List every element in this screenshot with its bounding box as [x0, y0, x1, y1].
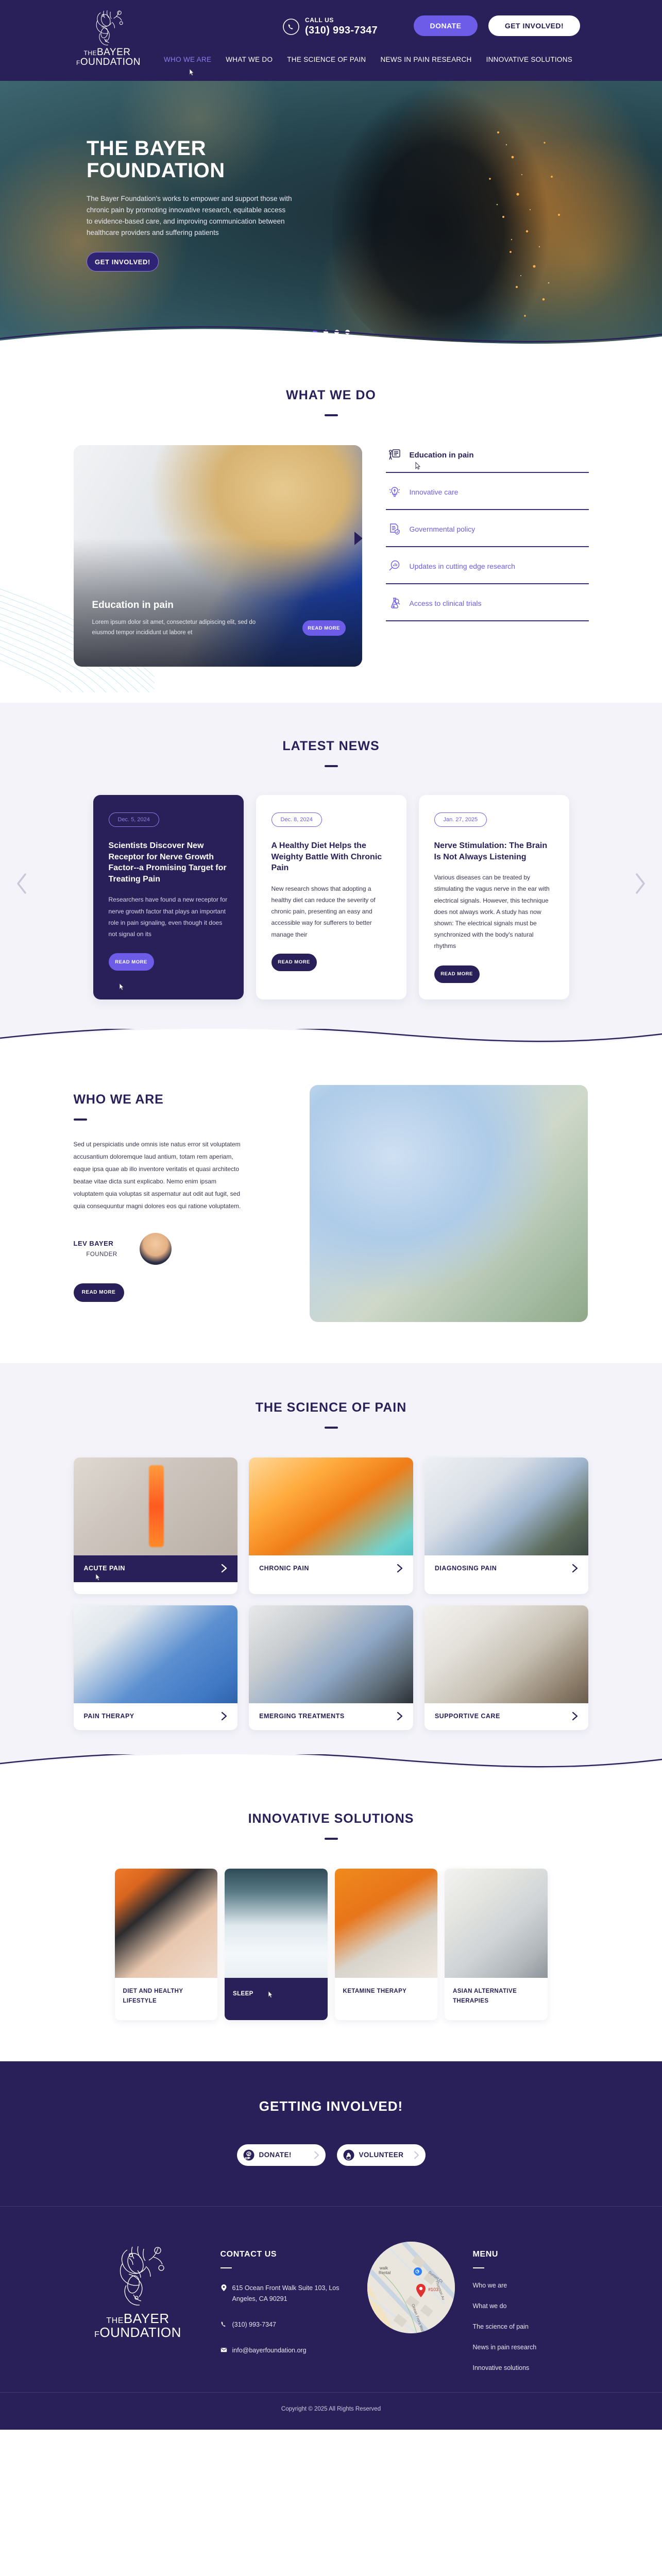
innovative-card-label: ASIAN ALTERNATIVE THERAPIES [453, 1988, 517, 2004]
founder-role: FOUNDER [74, 1251, 130, 1258]
hero-title-line2: FOUNDATION [87, 160, 308, 182]
footer-menu-item-news-in-pain-research[interactable]: News in pain research [473, 2344, 591, 2351]
what-we-do-item-updates-research[interactable]: Updates in cutting edge research [386, 560, 589, 584]
hero-banner: THE BAYER FOUNDATION The Bayer Foundatio… [0, 81, 662, 349]
footer-menu-item-what-we-do[interactable]: What we do [473, 2302, 591, 2310]
chevron-right-icon [414, 2151, 419, 2159]
innovative-card-image [445, 1869, 548, 1978]
footer-email: info@bayerfoundation.org [232, 2345, 307, 2357]
footer-address-line: 615 Ocean Front Walk Suite 103, Los Ange… [220, 2283, 349, 2306]
donate-button-label: DONATE! [259, 2151, 309, 2159]
innovative-card-asian-alternative[interactable]: ASIAN ALTERNATIVE THERAPIES [445, 1869, 548, 2020]
what-we-do-item-clinical-trials[interactable]: Access to clinical trials [386, 597, 589, 621]
latest-news-section: LATEST NEWS Dec. 5, 2024 Scientists Disc… [0, 703, 662, 1049]
nav-item-news-in-pain-research[interactable]: NEWS IN PAIN RESEARCH [380, 56, 471, 63]
science-card-emerging-treatments[interactable]: EMERGING TREATMENTS [249, 1605, 413, 1730]
what-we-do-title: WHAT WE DO [0, 388, 662, 403]
footer-phone: (310) 993-7347 [232, 2319, 276, 2331]
footer-divider-rule [220, 2267, 232, 2268]
who-we-are-body: Sed ut perspiciatis unde omnis iste natu… [74, 1138, 244, 1212]
what-we-do-section: WHAT WE DO Education in pain Lorem ipsum… [0, 349, 662, 703]
nav-item-the-science-of-pain[interactable]: THE SCIENCE OF PAIN [287, 56, 366, 63]
news-card-title: Nerve Stimulation: The Brain Is Not Alwa… [434, 840, 554, 862]
logo-f: F [76, 59, 80, 66]
call-us-block[interactable]: CALL US (310) 993-7347 [282, 16, 378, 37]
svg-text:Rental: Rental [379, 2270, 391, 2275]
logo-oundation: OUNDATION [80, 57, 141, 67]
what-we-do-item-innovative-care[interactable]: Innovative care [386, 485, 589, 510]
news-card-date: Dec. 5, 2024 [109, 812, 159, 827]
science-of-pain-title: THE SCIENCE OF PAIN [0, 1400, 662, 1415]
chevron-right-icon [397, 1564, 403, 1573]
news-prev-arrow[interactable] [15, 873, 29, 894]
news-card-title: A Healthy Diet Helps the Weighty Battle … [271, 840, 391, 874]
mouse-cursor-pointer [188, 68, 195, 77]
bird-logo-icon [99, 2240, 177, 2308]
chevron-right-icon [221, 1564, 227, 1573]
flask-magnifier-icon [388, 597, 401, 610]
news-bottom-wave [0, 1029, 662, 1049]
news-next-arrow[interactable] [633, 873, 647, 894]
innovative-card-image [335, 1869, 438, 1978]
map-graphic: walk Rental Sunset Ct Thornton Av Ocean … [367, 2242, 455, 2333]
nav-item-innovative-solutions[interactable]: INNOVATIVE SOLUTIONS [486, 56, 573, 63]
donate-button[interactable]: DONATE! [237, 2144, 326, 2166]
map-pin-icon [220, 2284, 227, 2292]
what-we-do-item-education-in-pain[interactable]: Education in pain [386, 448, 589, 473]
news-card[interactable]: Jan. 27, 2025 Nerve Stimulation: The Bra… [419, 795, 569, 999]
science-card-label: CHRONIC PAIN [259, 1565, 309, 1572]
what-we-do-item-label: Education in pain [410, 451, 474, 460]
section-divider-rule [325, 1838, 338, 1840]
what-we-do-item-label: Access to clinical trials [410, 599, 482, 607]
nav-item-what-we-do[interactable]: WHAT WE DO [226, 56, 273, 63]
logo-the: THE [83, 49, 97, 57]
news-card-date: Jan. 27, 2025 [434, 812, 487, 827]
section-divider-rule [325, 414, 338, 416]
what-we-do-read-more-button[interactable]: READ MORE [302, 620, 346, 636]
footer-logo[interactable]: THEBAYER FOUNDATION [71, 2236, 205, 2340]
donate-coin-hand-icon [243, 2149, 254, 2161]
location-map[interactable]: walk Rental Sunset Ct Thornton Av Ocean … [367, 2242, 455, 2333]
science-card-image [425, 1605, 589, 1703]
innovative-card-sleep[interactable]: SLEEP [225, 1869, 328, 2020]
who-we-are-read-more-button[interactable]: READ MORE [74, 1283, 124, 1302]
science-card-image [425, 1458, 589, 1555]
news-read-more-button[interactable]: READ MORE [434, 965, 480, 983]
getting-involved-title: GETTING INVOLVED! [0, 2098, 662, 2114]
science-card-acute-pain[interactable]: ACUTE PAIN [74, 1458, 238, 1594]
volunteer-button[interactable]: VOLUNTEER [337, 2144, 426, 2166]
hero-sparks-decoration [389, 112, 585, 328]
raised-hands-icon [343, 2149, 354, 2161]
what-we-do-item-label: Governmental policy [410, 525, 476, 533]
map-marker-label: #103 [428, 2287, 438, 2292]
science-card-image [249, 1458, 413, 1555]
innovative-card-label: SLEEP [233, 1991, 253, 1997]
science-bottom-wave [0, 1754, 662, 1775]
what-we-do-item-governmental-policy[interactable]: Governmental policy [386, 522, 589, 547]
logo-bayer: BAYER [97, 47, 131, 58]
science-card-label: ACUTE PAIN [84, 1565, 125, 1572]
hero-subtitle: The Bayer Foundation's works to empower … [87, 193, 293, 239]
science-card-diagnosing-pain[interactable]: DIAGNOSING PAIN [425, 1458, 589, 1594]
what-we-do-card-body: Lorem ipsum dolor sit amet, consectetur … [92, 617, 273, 638]
avatar [140, 1233, 172, 1265]
mouse-cursor-pointer [118, 982, 125, 992]
footer-logo-f: F [94, 2330, 99, 2339]
footer-contact-column: CONTACT US 615 Ocean Front Walk Suite 10… [220, 2236, 349, 2357]
science-card-chronic-pain[interactable]: CHRONIC PAIN [249, 1458, 413, 1594]
footer-map-column: walk Rental Sunset Ct Thornton Av Ocean … [365, 2236, 457, 2333]
magnifier-chart-icon [388, 560, 401, 573]
bird-logo-icon [83, 6, 131, 46]
section-divider-rule [325, 1427, 338, 1429]
footer-contact-heading: CONTACT US [220, 2250, 349, 2259]
footer-address: 615 Ocean Front Walk Suite 103, Los Ange… [232, 2283, 349, 2306]
what-we-do-item-label: Innovative care [410, 488, 459, 496]
call-us-label: CALL US [305, 16, 378, 24]
hero-get-involved-button[interactable]: GET INVOLVED! [87, 252, 159, 272]
page-root: THEBAYER FOUNDATION CALL US (310) 993-73… [0, 0, 662, 2430]
innovative-solutions-section: INNOVATIVE SOLUTIONS DIET AND HEALTHY LI… [0, 1774, 662, 2061]
who-we-are-section: WHO WE ARE Sed ut perspiciatis unde omni… [0, 1049, 662, 1363]
news-read-more-button[interactable]: READ MORE [109, 953, 154, 971]
mouse-cursor-pointer [267, 1990, 274, 1999]
hero-title-line1: THE BAYER [87, 138, 308, 160]
science-card-supportive-care[interactable]: SUPPORTIVE CARE [425, 1605, 589, 1730]
news-read-more-button[interactable]: READ MORE [271, 954, 317, 971]
site-header: THEBAYER FOUNDATION CALL US (310) 993-73… [0, 0, 662, 81]
footer-logo-bayer: BAYER [124, 2311, 169, 2326]
footer-menu-heading: MENU [473, 2250, 591, 2259]
what-we-do-feature-card[interactable]: Education in pain Lorem ipsum dolor sit … [74, 445, 362, 667]
site-logo[interactable]: THEBAYER FOUNDATION [76, 6, 138, 67]
chevron-right-icon [572, 1711, 578, 1721]
science-card-label: SUPPORTIVE CARE [435, 1713, 500, 1720]
founder-name: LEV BAYER [74, 1240, 130, 1247]
who-we-are-image [310, 1085, 588, 1322]
footer-logo-oundation: OUNDATION [99, 2325, 181, 2340]
header-phone-number[interactable]: (310) 993-7347 [305, 25, 378, 37]
phone-icon [220, 2320, 227, 2328]
science-card-label: DIAGNOSING PAIN [435, 1565, 497, 1572]
science-of-pain-section: THE SCIENCE OF PAIN ACUTE PAIN CHRONIC P… [0, 1363, 662, 1774]
document-shield-icon [388, 522, 401, 536]
news-card-title: Scientists Discover New Receptor for Ner… [109, 840, 228, 885]
science-card-image [249, 1605, 413, 1703]
phone-icon [282, 18, 300, 36]
chevron-right-icon [314, 2151, 319, 2159]
innovative-card-label: KETAMINE THERAPY [343, 1988, 407, 1994]
news-card-body: New research shows that adopting a healt… [271, 883, 391, 940]
hero-bottom-wave [0, 325, 662, 349]
innovative-card-diet[interactable]: DIET AND HEALTHY LIFESTYLE [115, 1869, 218, 2020]
getting-involved-section: GETTING INVOLVED! DONATE! [0, 2061, 662, 2206]
science-card-image [74, 1458, 238, 1555]
footer-logo-the: THE [106, 2316, 124, 2325]
nav-item-who-we-are[interactable]: WHO WE ARE [164, 56, 211, 63]
footer-menu-item-who-we-are[interactable]: Who we are [473, 2282, 591, 2289]
chevron-right-icon [397, 1711, 403, 1721]
presentation-board-icon [388, 448, 401, 462]
what-we-do-card-heading: Education in pain [92, 600, 273, 611]
innovative-solutions-title: INNOVATIVE SOLUTIONS [0, 1811, 662, 1826]
header-donate-button[interactable]: DONATE [414, 15, 478, 36]
footer-email-line[interactable]: info@bayerfoundation.org [220, 2345, 349, 2357]
news-card-body: Various diseases can be treated by stimu… [434, 872, 554, 952]
innovative-card-image [115, 1869, 218, 1978]
news-card[interactable]: Dec. 5, 2024 Scientists Discover New Rec… [93, 795, 244, 999]
innovative-card-ketamine[interactable]: KETAMINE THERAPY [335, 1869, 438, 2020]
chevron-right-icon [572, 1564, 578, 1573]
section-divider-rule [325, 765, 338, 767]
science-card-image [74, 1605, 238, 1703]
footer-menu-item-innovative-solutions[interactable]: Innovative solutions [473, 2364, 591, 2371]
footer-menu-column: MENU Who we are What we do The science o… [473, 2236, 591, 2371]
chevron-right-icon [221, 1711, 227, 1721]
copyright-text: Copyright © 2025 All Rights Reserved [0, 2393, 662, 2430]
science-card-label: EMERGING TREATMENTS [259, 1713, 345, 1720]
active-item-pointer-icon [354, 532, 362, 545]
latest-news-title: LATEST NEWS [0, 739, 662, 754]
science-card-label: PAIN THERAPY [84, 1713, 134, 1720]
mouse-cursor-pointer [414, 462, 421, 471]
footer-divider-rule [473, 2267, 484, 2268]
what-we-do-list: Education in pain Innovative care [386, 445, 589, 667]
innovative-card-label: DIET AND HEALTHY LIFESTYLE [123, 1988, 183, 2004]
main-nav: WHO WE ARE WHAT WE DO THE SCIENCE OF PAI… [164, 56, 572, 63]
science-card-pain-therapy[interactable]: PAIN THERAPY [74, 1605, 238, 1730]
footer-phone-line[interactable]: (310) 993-7347 [220, 2319, 349, 2331]
news-card-date: Dec. 8, 2024 [271, 812, 322, 827]
what-we-do-item-label: Updates in cutting edge research [410, 562, 515, 570]
svg-text:walk: walk [379, 2266, 388, 2270]
envelope-icon [220, 2346, 227, 2354]
news-card-body: Researchers have found a new receptor fo… [109, 894, 228, 940]
innovative-card-image [225, 1869, 328, 1978]
site-footer: THEBAYER FOUNDATION CONTACT US 615 Ocean… [0, 2206, 662, 2430]
footer-menu-item-the-science-of-pain[interactable]: The science of pain [473, 2323, 591, 2330]
volunteer-button-label: VOLUNTEER [359, 2151, 409, 2159]
founder-block: LEV BAYER FOUNDER [74, 1233, 280, 1265]
lightbulb-brain-icon [388, 485, 401, 499]
section-divider-rule [74, 1118, 87, 1121]
who-we-are-title: WHO WE ARE [74, 1092, 280, 1107]
header-get-involved-button[interactable]: GET INVOLVED! [488, 15, 580, 36]
news-card[interactable]: Dec. 8, 2024 A Healthy Diet Helps the We… [256, 795, 406, 999]
